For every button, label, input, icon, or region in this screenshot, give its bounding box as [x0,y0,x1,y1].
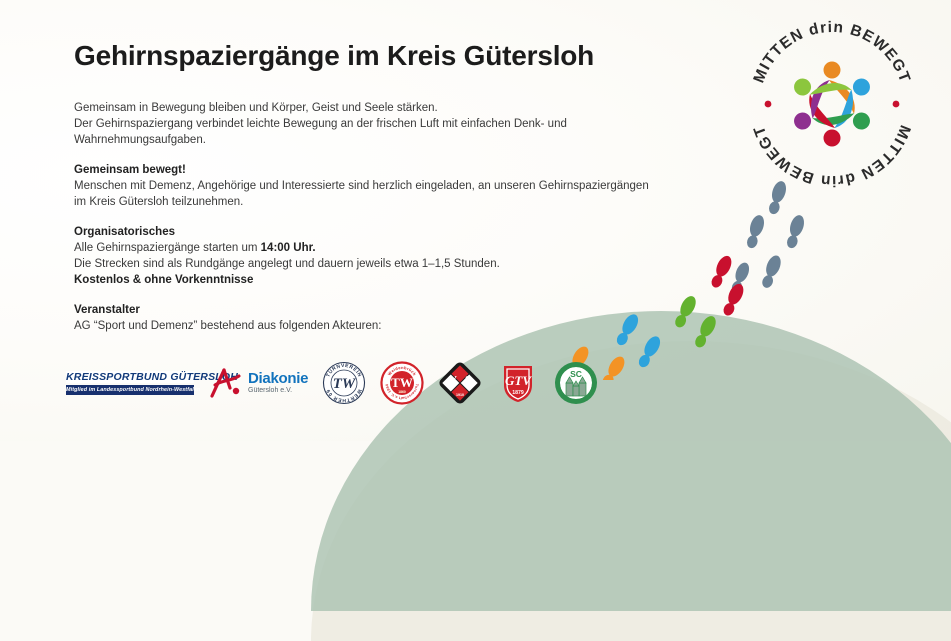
start-time: 14:00 Uhr. [261,242,316,254]
intro-line-3: Wahrnehmungsaufgaben. [74,132,674,148]
start-prefix: Alle Gehirnspaziergänge starten um [74,242,261,254]
svg-text:SC: SC [570,369,582,379]
together-heading: Gemeinsam bewegt! [74,162,674,178]
diakonie-crown-cross-icon [208,366,244,400]
svg-text:TW: TW [391,375,413,390]
svg-text:S: S [465,374,471,386]
tv-verl-logo: Weidenbrück Turnerschaft e.V. 1860 TW 18… [380,361,424,405]
ksb-name: KREISSPORTBUND GÜTERSLOH [66,371,194,383]
svg-text:1910: 1910 [456,393,464,397]
diakonie-name: Diakonie [248,371,308,386]
diakonie-guetersloh-logo: Diakonie Gütersloh e.V. [208,366,308,400]
gtv-1879-logo: GTV 1879 [496,361,540,405]
svg-text:TW: TW [333,376,357,392]
intro-line-1: Gemeinsam in Bewegung bleiben und Körper… [74,100,674,116]
turnverein-werther-logo: TURNVEREIN WERTHER 09 TW [322,361,366,405]
vfs-diamond-logo: V S 1910 [438,361,482,405]
intro-block: Gemeinsam in Bewegung bleiben und Körper… [74,100,674,148]
partner-logo-row: KREISSPORTBUND GÜTERSLOH Mitglied im Lan… [66,357,598,409]
svg-text:GTV: GTV [505,373,532,388]
diakonie-location: Gütersloh e.V. [248,386,308,395]
kreissportbund-guetersloh-logo: KREISSPORTBUND GÜTERSLOH Mitglied im Lan… [66,371,194,395]
page-title: Gehirnspaziergänge im Kreis Gütersloh [74,40,594,72]
mitten-drin-bewegt-logo: MITTEN drin BEWEGT MITTEN drin BEWEGT [742,14,922,194]
ksb-subtitle: Mitglied im Landessportbund Nordrhein-We… [66,385,194,395]
footprint-trail [555,180,815,380]
sc-verein-logo: SC [554,361,598,405]
svg-text:1879: 1879 [512,390,524,396]
svg-text:V: V [449,374,457,386]
intro-line-2: Der Gehirnspaziergang verbindet leichte … [74,116,674,132]
svg-text:1860: 1860 [398,390,406,394]
